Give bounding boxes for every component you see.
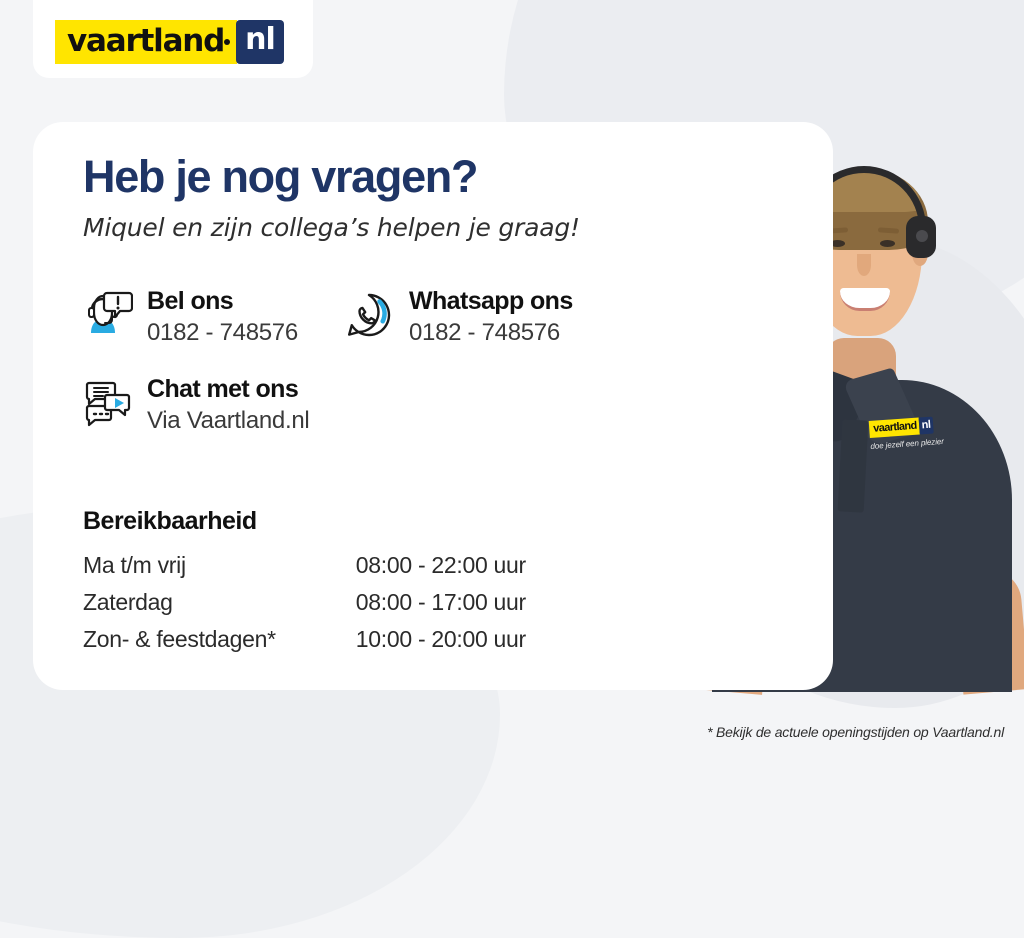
headset-earcup-detail — [916, 230, 928, 242]
logo-wordmark: vaartland — [67, 26, 224, 57]
hours-time: 10:00 - 20:00 uur — [356, 621, 526, 658]
agent-nose — [857, 254, 871, 276]
logo-dot-icon — [224, 39, 230, 45]
contact-call-title: Bel ons — [147, 287, 298, 316]
contact-whatsapp[interactable]: Whatsapp ons 0182 - 748576 — [343, 287, 573, 348]
hours-time: 08:00 - 17:00 uur — [356, 584, 526, 621]
hours-day: Zaterdag — [83, 584, 356, 621]
agent-eye-right — [880, 240, 895, 247]
polo-tagline: doe jezelf een plezier — [870, 436, 956, 451]
agent-shirt-placket — [838, 419, 869, 512]
hours-day: Ma t/m vrij — [83, 547, 356, 584]
table-row: Zon- & feestdagen* 10:00 - 20:00 uur — [83, 621, 526, 658]
page-subtitle: Miquel en zijn collega’s helpen je graag… — [83, 215, 580, 240]
poster-stage: vaartland nl — [0, 0, 1024, 768]
footnote: * Bekijk de actuele openingstijden op Va… — [707, 724, 1004, 740]
polo-logo-navy-badge: nl — [918, 417, 934, 435]
logo-yellow-badge: vaartland — [55, 20, 237, 64]
contact-call-text: Bel ons 0182 - 748576 — [147, 287, 298, 348]
hours-table: Ma t/m vrij 08:00 - 22:00 uur Zaterdag 0… — [83, 547, 526, 658]
polo-logo-yellow-badge: vaartland — [869, 418, 920, 438]
polo-chest-logo: vaartland nl doe jezelf een plezier — [869, 415, 958, 461]
table-row: Ma t/m vrij 08:00 - 22:00 uur — [83, 547, 526, 584]
hours-time: 08:00 - 22:00 uur — [356, 547, 526, 584]
polo-logo-wordmark: vaartland — [873, 421, 917, 435]
hours-day: Zon- & feestdagen* — [83, 621, 356, 658]
table-row: Zaterdag 08:00 - 17:00 uur — [83, 584, 526, 621]
contact-call-number: 0182 - 748576 — [147, 318, 298, 348]
contact-chat-title: Chat met ons — [147, 375, 309, 404]
logo-tld: nl — [245, 25, 275, 55]
contact-whatsapp-text: Whatsapp ons 0182 - 748576 — [409, 287, 573, 348]
contact-whatsapp-title: Whatsapp ons — [409, 287, 573, 316]
polo-logo-tld: nl — [921, 420, 931, 432]
contact-chat-link: Via Vaartland.nl — [147, 406, 309, 436]
chat-bubbles-icon — [81, 377, 133, 429]
contact-chat[interactable]: Chat met ons Via Vaartland.nl — [81, 375, 309, 436]
page-title: Heb je nog vragen? — [83, 154, 477, 199]
logo-lockup: vaartland nl — [55, 20, 284, 64]
brand-logo[interactable]: vaartland nl — [33, 0, 313, 78]
whatsapp-icon — [343, 289, 395, 341]
contact-whatsapp-number: 0182 - 748576 — [409, 318, 573, 348]
headset-person-icon — [81, 289, 133, 341]
content-card: Heb je nog vragen? Miquel en zijn colleg… — [33, 122, 833, 690]
logo-navy-badge: nl — [236, 20, 284, 64]
contact-call[interactable]: Bel ons 0182 - 748576 — [81, 287, 298, 348]
hours-title: Bereikbaarheid — [83, 507, 257, 536]
contact-chat-text: Chat met ons Via Vaartland.nl — [147, 375, 309, 436]
